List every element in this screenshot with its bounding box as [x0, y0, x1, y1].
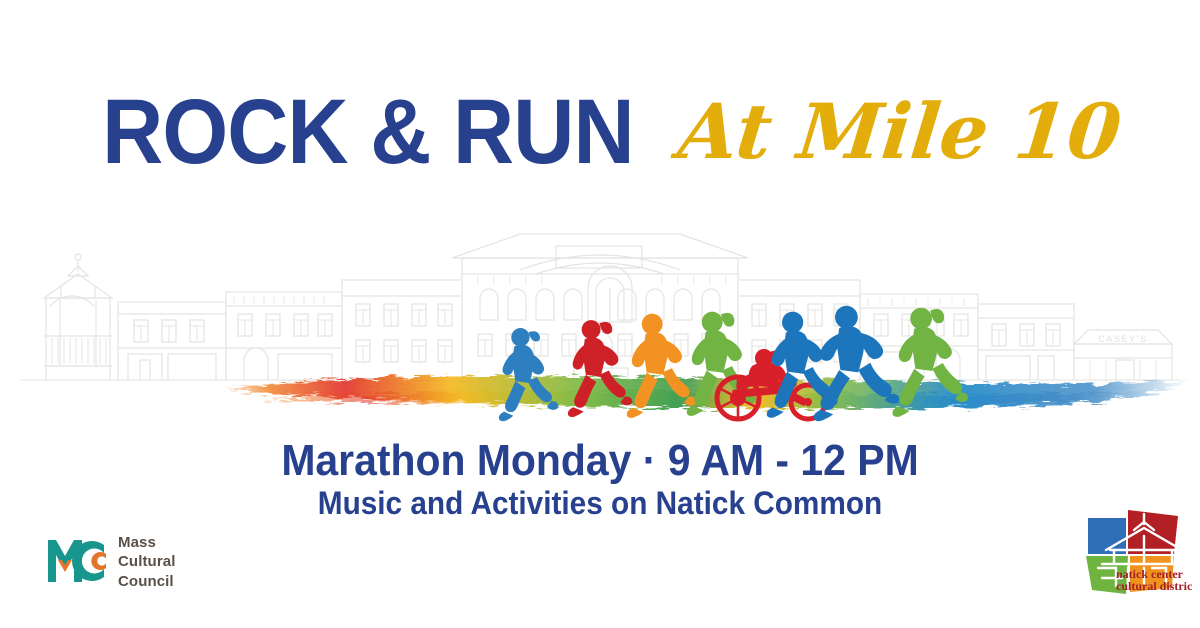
title-script-text: At Mile 10	[675, 94, 1125, 170]
runner-blue-1	[499, 328, 559, 421]
poster-canvas: ROCK & RUNAt Mile 10	[0, 0, 1200, 628]
ncd-wordmark: natick center cultural district	[1116, 567, 1192, 593]
event-details: Marathon Monday · 9 AM - 12 PM Music and…	[0, 438, 1200, 522]
title-main-text: ROCK & RUN	[102, 86, 634, 178]
mcc-wordmark: Mass Cultural Council	[118, 533, 175, 591]
streetscape-illustration: CASEY'S	[0, 218, 1200, 428]
mass-cultural-council-logo: Mass Cultural Council	[46, 532, 256, 592]
event-description: Music and Activities on Natick Common	[42, 485, 1158, 523]
storefront-right-b	[978, 304, 1074, 380]
gazebo	[44, 254, 112, 380]
mcc-word-line-2: Cultural	[118, 552, 175, 571]
natick-center-cultural-district-logo: natick center cultural district	[1082, 506, 1192, 598]
caseys-storefront: CASEY'S	[1074, 330, 1172, 380]
poster-title: ROCK & RUNAt Mile 10	[0, 86, 1200, 178]
event-date-time: Marathon Monday · 9 AM - 12 PM	[42, 438, 1158, 485]
mcc-word-line-3: Council	[118, 572, 175, 591]
ncd-word-line-2: cultural district	[1116, 579, 1192, 593]
caseys-sign-text: CASEY'S	[1098, 334, 1147, 344]
storefront-left-b	[226, 292, 342, 380]
storefront-left-a	[118, 302, 226, 380]
mcc-word-line-1: Mass	[118, 533, 175, 552]
mcc-mark-icon	[46, 536, 108, 589]
